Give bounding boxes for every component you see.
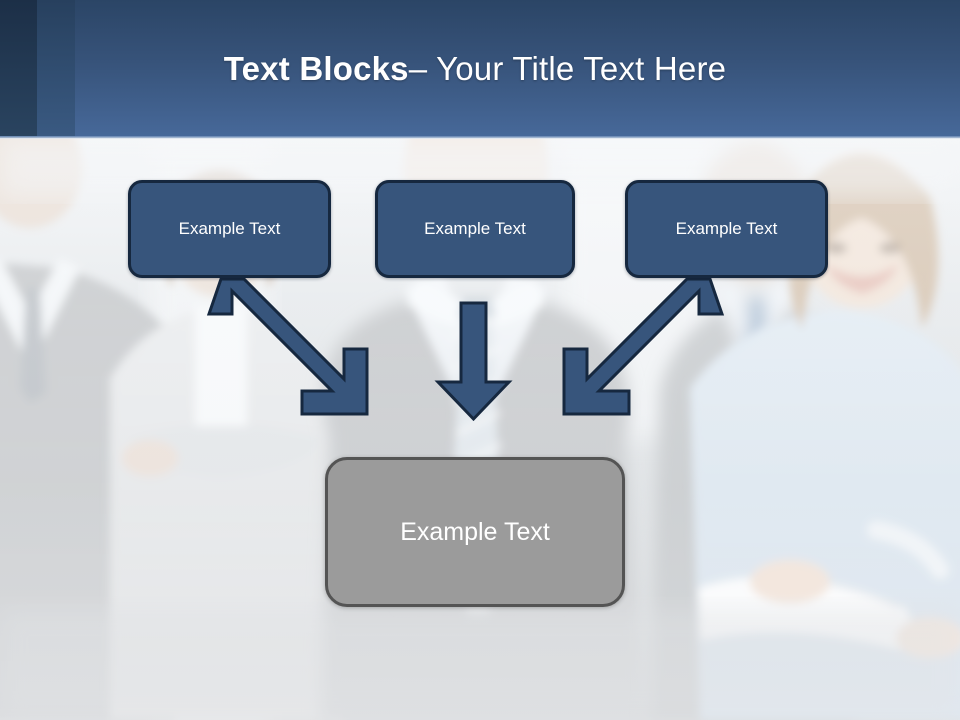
text-block-3-label: Example Text [676,219,778,239]
result-text-block[interactable]: Example Text [325,457,625,607]
slide-canvas: Text Blocks – Your Title Text Here Examp… [0,0,960,720]
text-block-1-label: Example Text [179,219,281,239]
result-text-block-label: Example Text [400,518,550,547]
text-block-3[interactable]: Example Text [625,180,828,278]
text-block-2[interactable]: Example Text [375,180,575,278]
text-block-2-label: Example Text [424,219,526,239]
text-block-1[interactable]: Example Text [128,180,331,278]
diagram-shapes: Example Text Example Text Example Text E… [0,0,960,720]
